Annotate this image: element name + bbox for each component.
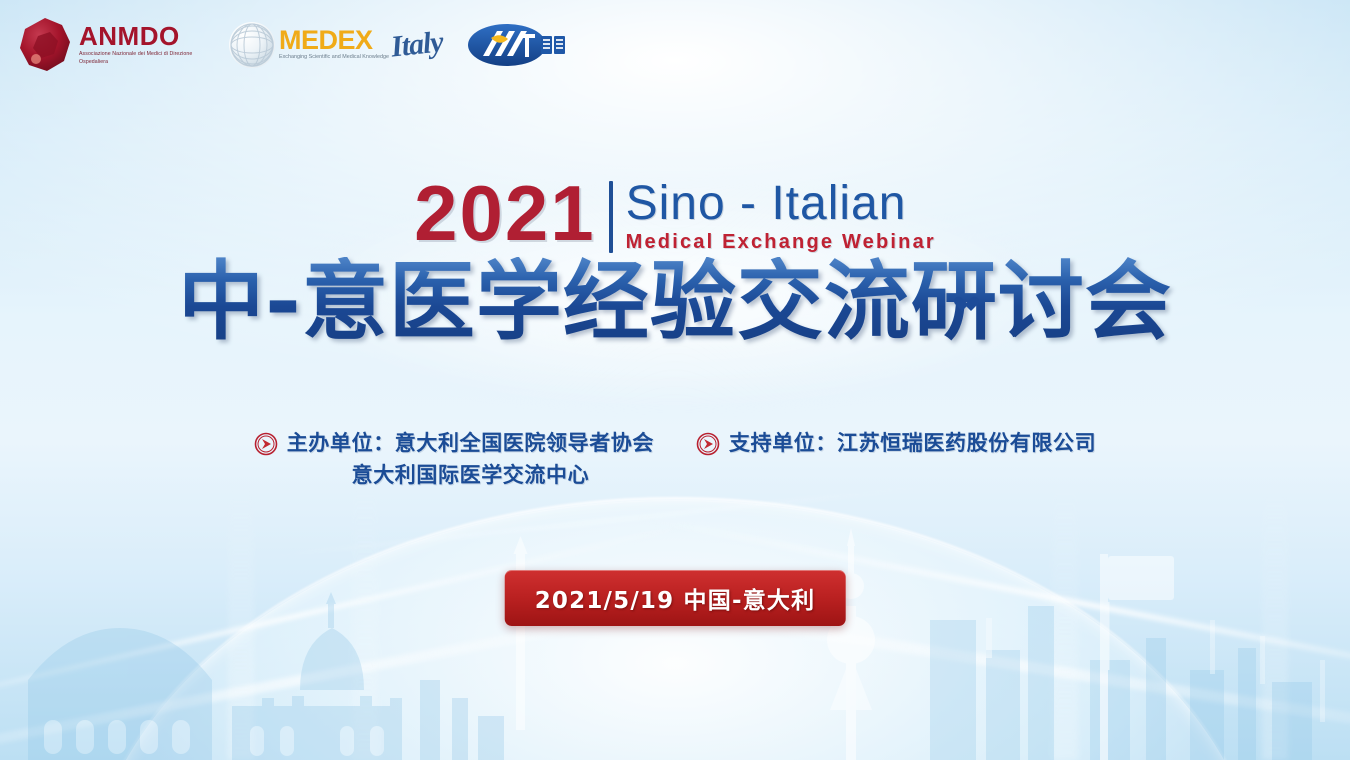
light-column [228,480,254,760]
medex-subtitle: Exchanging Scientific and Medical Knowle… [279,54,389,62]
arrow-circle-icon [254,432,278,456]
medex-globe-icon [229,22,275,68]
organiser-host: 主办单位：意大利全国医院领导者协会 意大利国际医学交流中心 [254,430,654,489]
logo-hengrui[interactable] [467,20,567,70]
logo-medex-italy[interactable]: MEDEX Exchanging Scientific and Medical … [229,22,443,68]
hengrui-mark-icon [467,20,567,70]
logo-anmdo[interactable]: ANMDO Associazione Nazionale dei Medici … [14,14,211,76]
headline-year: 2021 [414,178,596,250]
headline-english-row: 2021 Sino - Italian Medical Exchange Web… [0,178,1350,253]
headline-chinese: 中-意医学经验交流研讨会 [178,257,1172,347]
anmdo-mark-icon [14,14,76,76]
headline-english-main: Sino - Italian [626,180,907,228]
organiser-row: 主办单位：意大利全国医院领导者协会 意大利国际医学交流中心 支持单位：江苏恒瑞医… [0,430,1350,489]
headline-divider [609,181,613,253]
medex-italy-script: Italy [389,25,444,64]
light-ray [252,483,948,559]
light-column [1262,480,1288,760]
organiser-host-line-1: 主办单位：意大利全国医院领导者协会 [287,430,654,456]
arrow-circle-icon [696,432,720,456]
anmdo-name: ANMDO [79,23,211,49]
webinar-poster: ANMDO Associazione Nazionale dei Medici … [0,0,1350,760]
date-location-badge: 2021/5/19 中国-意大利 [505,570,846,626]
anmdo-subtitle: Associazione Nazionale dei Medici di Dir… [79,51,211,67]
light-column [1052,480,1078,760]
globe-rim [85,497,1265,760]
sponsor-logo-row: ANMDO Associazione Nazionale dei Medici … [14,14,567,76]
globe-arc [85,500,1265,760]
heart-icon [958,297,975,313]
organiser-host-line-2: 意大利国际医学交流中心 [287,462,654,488]
shanghai-skyline [790,510,1350,760]
organiser-supporter: 支持单位：江苏恒瑞医药股份有限公司 [696,430,1096,456]
headline-block: 2021 Sino - Italian Medical Exchange Web… [0,178,1350,347]
background-decoration [0,0,1350,760]
light-column [352,480,378,760]
organiser-supporter-line-1: 支持单位：江苏恒瑞医药股份有限公司 [729,430,1096,456]
italy-skyline [0,530,560,760]
medex-name: MEDEX [279,28,389,54]
headline-english-sub: Medical Exchange Webinar [626,231,936,253]
